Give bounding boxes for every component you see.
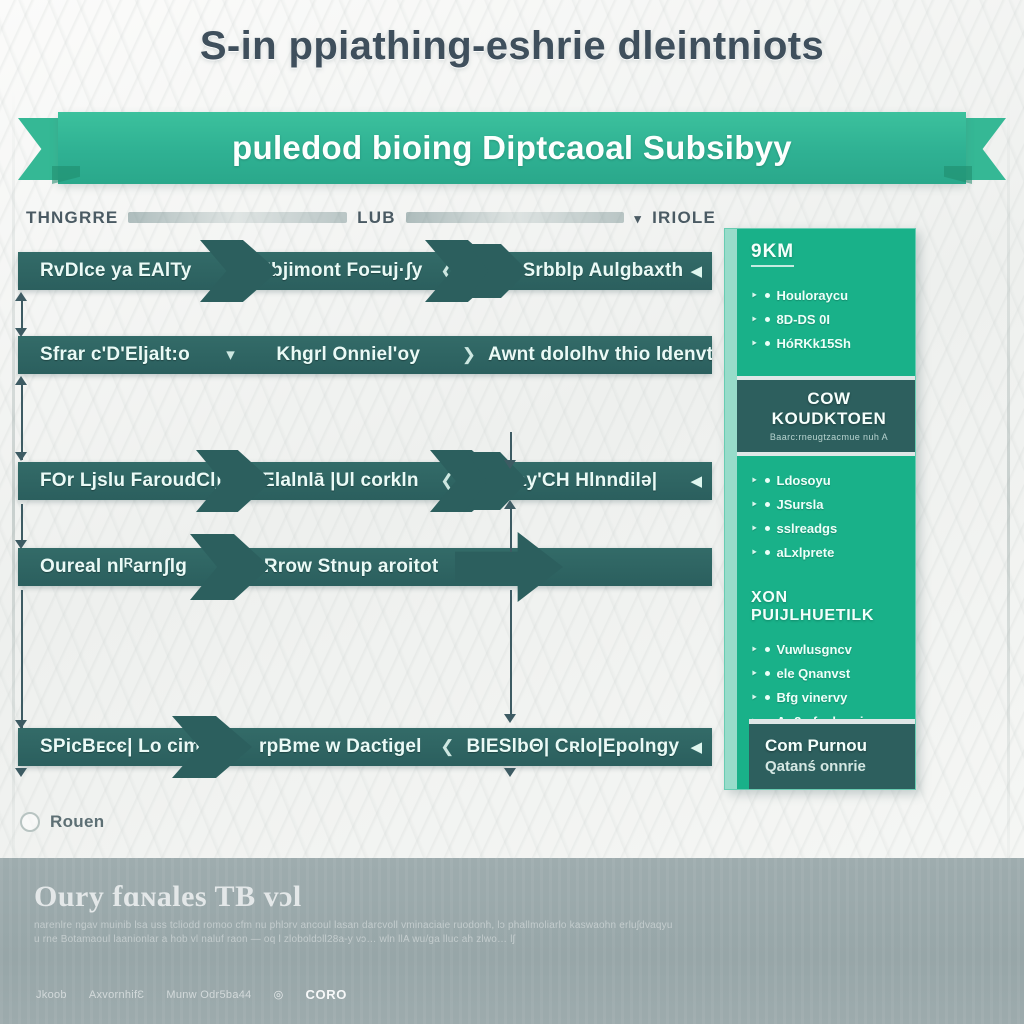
bullet-dot-icon [765,695,770,700]
bullet-marker-icon: ‣ [751,643,758,656]
table-row[interactable]: Sfrar c'D'Eljalt:o ▾ Khgrl Onniel'oy ❯ A… [18,336,712,374]
bullet-marker-icon: ‣ [751,691,758,704]
arrow-down-icon [504,714,516,723]
page-title: S-in ppiathing-eshrie dleintniots [0,24,1024,69]
bullet-marker-icon: ‣ [751,522,758,535]
header-smear-left [128,212,347,223]
connector-line [510,590,512,720]
list-item[interactable]: ‣ aLxlprete [751,545,907,560]
footer-link-2[interactable]: AxvornhifƐ [89,989,145,1001]
list-item[interactable]: ‣ Vuwlusgncv [751,642,907,657]
bullet-dot-icon [765,478,770,483]
circle-icon [20,812,40,832]
bullet-marker-icon: ‣ [751,474,758,487]
list-item[interactable]: ‣ HóRKk15Sh [751,336,907,351]
brand-mark-icon: ◎ [274,988,284,1001]
bullet-marker-icon: ‣ [751,546,758,559]
connector-line [21,296,23,332]
list-item-label: Vuwlusgncv [777,642,852,657]
caption: Rouen [20,812,104,832]
footer-links: Jkoob AxvornhifƐ Munw Odr5ba44 ◎ CORO [36,987,347,1002]
side-list-group-one: ‣ Houloraycu ‣ 8D-DS 0I ‣ HóRKk15Sh [737,271,915,370]
arrow-up-icon [15,292,27,301]
bullet-marker-icon: ‣ [751,337,758,350]
table-row[interactable]: RvDIce ya EAlTy ❯ Ebjimont Fo=uj·ʃy ❮ EƤ… [18,252,712,290]
bullet-dot-icon [765,293,770,298]
chevron-left-icon: ❮ [440,737,454,757]
ribbon-banner: puledod bioing Diptcaoal Subsibyy [0,112,1024,186]
flow-arrow-right-large-icon [455,532,563,602]
list-item-label: Ldosoyu [777,473,831,488]
list-item-label: sslreadgs [777,521,838,536]
side-panel-title-text: 9KM [751,241,794,267]
footer-body-line-1: narenlre ngav muinib lsa uss tcliodd rom… [34,920,904,931]
list-item[interactable]: ‣ Bfg vinervy [751,690,907,705]
arrow-up-icon [15,376,27,385]
row-endcap-icon: ◀ [690,262,712,280]
bullet-dot-icon [765,550,770,555]
table-row[interactable]: SPicBᴇᴄє| Lo cim ❯ rpBme w Dactigel ❮ Bl… [18,728,712,766]
side-footer-line-2: Qatanś onnrie [765,758,905,775]
side-panel-content: 9KM ‣ Houloraycu ‣ 8D-DS 0I ‣ HóRKk15Sh … [737,229,915,789]
list-item-label: HóRKk15Sh [777,336,851,351]
side-panel-title: 9KM [737,229,915,271]
list-item-label: 8D-DS 0I [777,312,830,327]
footer-link-3[interactable]: Munw Odr5ba44 [166,989,251,1001]
column-header-right: IRIOLE [652,208,716,228]
row-cell-middle: Rrow Stnup aroitot [240,556,461,578]
chevron-right-icon: ▾ [226,345,235,365]
list-item[interactable]: ‣ JSursla [751,497,907,512]
list-item[interactable]: ‣ Houloraycu [751,288,907,303]
row-cell-middle: rpBme w Dactigel [240,736,440,758]
side-panel-subheading: XON PUIJLHUETILK [737,579,915,625]
bullet-marker-icon: ‣ [751,498,758,511]
page-footer: Oury fɑɴales TB vɔl narenlre ngav muinib… [0,858,1024,1024]
list-item-label: Houloraycu [777,288,849,303]
footer-link-1[interactable]: Jkoob [36,989,67,1001]
bullet-marker-icon: ‣ [751,313,758,326]
footer-body-line-2: u rne Botamaoul laanionlar a hob vl nalu… [34,934,904,945]
list-item-label: Bfg vinervy [777,690,848,705]
ribbon-body: puledod bioing Diptcaoal Subsibyy [58,112,966,184]
caption-label: Rouen [50,812,104,832]
ribbon-label: puledod bioing Diptcaoal Subsibyy [232,129,792,167]
column-header-row: THNGRRE LUB ▾ IRIOLE [26,208,716,228]
arrow-down-icon [15,452,27,461]
row-cell-left: Sfrar c'D'Eljalt:o [18,344,226,366]
arrow-down-icon [15,328,27,337]
table-row[interactable]: Oureal nlᴿarnʃlg ❯ Rrow Stnup aroitot ❮ [18,548,712,586]
list-item-label: ele Qnanvst [777,666,851,681]
bullet-dot-icon [765,647,770,652]
side-panel-band: COW KOUDKTOEN Baarc:rneugtzacmue nuh A [737,376,915,456]
bullet-dot-icon [765,341,770,346]
arrow-down-icon [15,720,27,729]
list-item[interactable]: ‣ sslreadgs [751,521,907,536]
footer-heading: Oury fɑɴales TB vɔl [34,880,302,914]
row-endcap-icon: ◀ [690,738,712,756]
table-row[interactable]: FOr Ljslu FaroudClʃ ❯ Elalnlā |Ul corkln… [18,462,712,500]
footer-brand: CORO [306,987,347,1002]
side-list-group-two: ‣ Ldosoyu ‣ JSursla ‣ sslreadgs ‣ aLxlpr… [737,456,915,579]
arrow-down-icon [15,540,27,549]
arrow-up-icon [504,500,516,509]
row-cell-right: BlESlbΘ| Cʀlᴏ|Epolngy [455,736,691,758]
side-band-heading: COW KOUDKTOEN [751,389,907,429]
chevron-down-icon: ▾ [634,211,642,227]
side-footer-line-1: Com Purnou [765,736,905,756]
arrow-down-icon [15,768,27,777]
chevron-right-icon: ❯ [462,345,476,365]
arrow-down-icon [504,768,516,777]
list-item[interactable]: ‣ Ldosoyu [751,473,907,488]
list-item[interactable]: ‣ ele Qnanvst [751,666,907,681]
right-margin-rule [1007,90,1010,914]
list-item-label: JSursla [777,497,824,512]
bullet-marker-icon: ‣ [751,667,758,680]
diagram-stage: THNGRRE LUB ▾ IRIOLE RvDIce ya EAlTy ❯ E… [0,196,724,796]
column-header-middle: LUB [357,208,396,228]
header-smear-right [406,212,625,223]
connector-line [510,504,512,552]
row-cell-left: RvDIce ya EAlTy [18,260,226,282]
list-item-label: aLxlprete [777,545,835,560]
bullet-dot-icon [765,671,770,676]
column-header-left: THNGRRE [26,208,118,228]
connector-line [21,590,23,728]
bullet-dot-icon [765,502,770,507]
arrow-down-icon [504,460,516,469]
row-cell-left: Oureal nlᴿarnʃlg [18,556,226,578]
row-endcap-icon: ◀ [690,472,712,490]
row-cell-right: Awnt dololhv thio ldenvtuojE [476,344,712,366]
side-panel-gutter [725,229,737,789]
row-cell-middle: Khgrl Onniel'oy [235,344,462,366]
side-band-subheading: Baarc:rneugtzacmue nuh A [751,432,907,442]
connector-line [21,380,23,460]
bullet-dot-icon [765,526,770,531]
side-panel-footer: Com Purnou Qatanś onnrie [749,719,915,789]
bullet-marker-icon: ‣ [751,289,758,302]
side-panel: 9KM ‣ Houloraycu ‣ 8D-DS 0I ‣ HóRKk15Sh … [724,228,916,790]
list-item[interactable]: ‣ 8D-DS 0I [751,312,907,327]
bullet-dot-icon [765,317,770,322]
row-cell-left: FOr Ljslu FaroudClʃ [18,470,226,492]
